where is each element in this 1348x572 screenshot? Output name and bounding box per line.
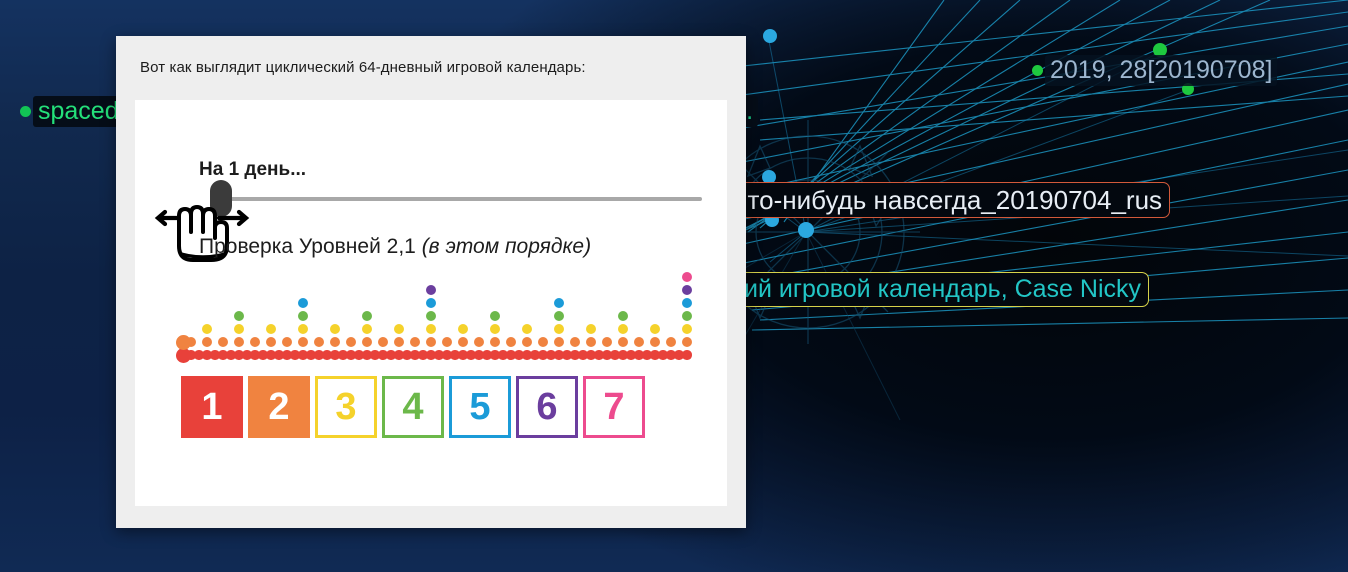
calendar-dot (426, 311, 436, 321)
calendar-dot (362, 337, 372, 347)
calendar-dot (570, 337, 580, 347)
calendar-dot (682, 285, 692, 295)
calendar-dot (282, 337, 292, 347)
calendar-dot-day1 (176, 335, 191, 350)
calendar-dot-chart (175, 255, 705, 365)
bg-node-label-case-nicky[interactable]: ий игровой календарь, Case Nicky (736, 272, 1149, 307)
dialog-title: Вот как выглядит циклический 64-дневный … (116, 36, 746, 76)
calendar-dot (442, 337, 452, 347)
calendar-dot (234, 337, 244, 347)
level-box-label: 5 (469, 386, 490, 429)
calendar-dot (554, 337, 564, 347)
calendar-dot (266, 324, 276, 334)
bg-node-label-2019[interactable]: 2019, 28[20190708] (1032, 55, 1277, 86)
calendar-dot (458, 337, 468, 347)
calendar-dot (410, 337, 420, 347)
calendar-dot (362, 324, 372, 334)
level-box-6[interactable]: 6 (516, 376, 578, 438)
calendar-dot (426, 337, 436, 347)
bg-label-text: 2019, 28[20190708] (1045, 55, 1277, 86)
calendar-dot (330, 337, 340, 347)
calendar-dot (234, 324, 244, 334)
calendar-dot (330, 324, 340, 334)
calendar-dot (490, 311, 500, 321)
calendar-dot (346, 337, 356, 347)
calendar-dot (298, 311, 308, 321)
calendar-dot (586, 337, 596, 347)
slider-track[interactable] (226, 197, 702, 201)
calendar-dot (650, 324, 660, 334)
calendar-dot (298, 298, 308, 308)
calendar-dot (426, 285, 436, 295)
calendar-dot (426, 298, 436, 308)
level-box-label: 1 (201, 386, 222, 429)
calendar-dot (490, 337, 500, 347)
calendar-dot-day1 (176, 348, 191, 363)
bg-node-label-navsegda[interactable]: что-нибудь навсегда_20190704_rus (726, 182, 1170, 218)
calendar-dot (602, 337, 612, 347)
calendar-dot (650, 337, 660, 347)
calendar-dot (634, 337, 644, 347)
level-box-label: 2 (268, 386, 289, 429)
calendar-dot (682, 272, 692, 282)
level-box-label: 3 (335, 386, 356, 429)
calendar-dot (474, 337, 484, 347)
calendar-dot (554, 324, 564, 334)
bg-node-label-spaced[interactable]: spaced (20, 96, 124, 127)
calendar-dot (298, 337, 308, 347)
calendar-dot (682, 350, 691, 359)
calendar-dot (362, 311, 372, 321)
level-box-7[interactable]: 7 (583, 376, 645, 438)
calendar-dot (554, 298, 564, 308)
calendar-dot (202, 324, 212, 334)
calendar-dot (378, 337, 388, 347)
calendar-dot (618, 311, 628, 321)
node-dot-icon (20, 106, 31, 117)
calendar-dot (394, 337, 404, 347)
calendar-dot (202, 337, 212, 347)
calendar-dot (682, 324, 692, 334)
calendar-dot (682, 311, 692, 321)
calendar-dot (554, 311, 564, 321)
slide-heading: На 1 день... (199, 159, 306, 181)
calendar-dot (506, 337, 516, 347)
calendar-dot (618, 324, 628, 334)
level-box-1[interactable]: 1 (181, 376, 243, 438)
calendar-dot (522, 337, 532, 347)
calendar-dot (666, 337, 676, 347)
level-box-2[interactable]: 2 (248, 376, 310, 438)
calendar-dot (314, 337, 324, 347)
calendar-dot (426, 324, 436, 334)
calendar-dot (266, 337, 276, 347)
level-box-label: 4 (402, 386, 423, 429)
calendar-dot (682, 298, 692, 308)
calendar-dot (538, 337, 548, 347)
calendar-dot (522, 324, 532, 334)
level-box-label: 6 (536, 386, 557, 429)
calendar-dot (394, 324, 404, 334)
bg-label-text: spaced (33, 96, 124, 127)
dialog-content-panel: На 1 день... Проверка Уровней 2,1 (в это… (135, 100, 727, 506)
calendar-dot (682, 337, 692, 347)
calendar-dot (250, 337, 260, 347)
calendar-dot (234, 311, 244, 321)
calendar-dialog: Вот как выглядит циклический 64-дневный … (116, 36, 746, 528)
node-dot-icon (1032, 65, 1043, 76)
calendar-dot (490, 324, 500, 334)
level-box-3[interactable]: 3 (315, 376, 377, 438)
calendar-dot (618, 337, 628, 347)
calendar-dot (586, 324, 596, 334)
calendar-dot (218, 337, 228, 347)
level-box-4[interactable]: 4 (382, 376, 444, 438)
level-box-label: 7 (603, 386, 624, 429)
level-boxes: 1234567 (181, 376, 650, 438)
level-box-5[interactable]: 5 (449, 376, 511, 438)
bg-label-text: ий игровой календарь, Case Nicky (736, 272, 1149, 307)
bg-label-text: что-нибудь навсегда_20190704_rus (726, 182, 1170, 218)
calendar-dot (298, 324, 308, 334)
calendar-dot (458, 324, 468, 334)
